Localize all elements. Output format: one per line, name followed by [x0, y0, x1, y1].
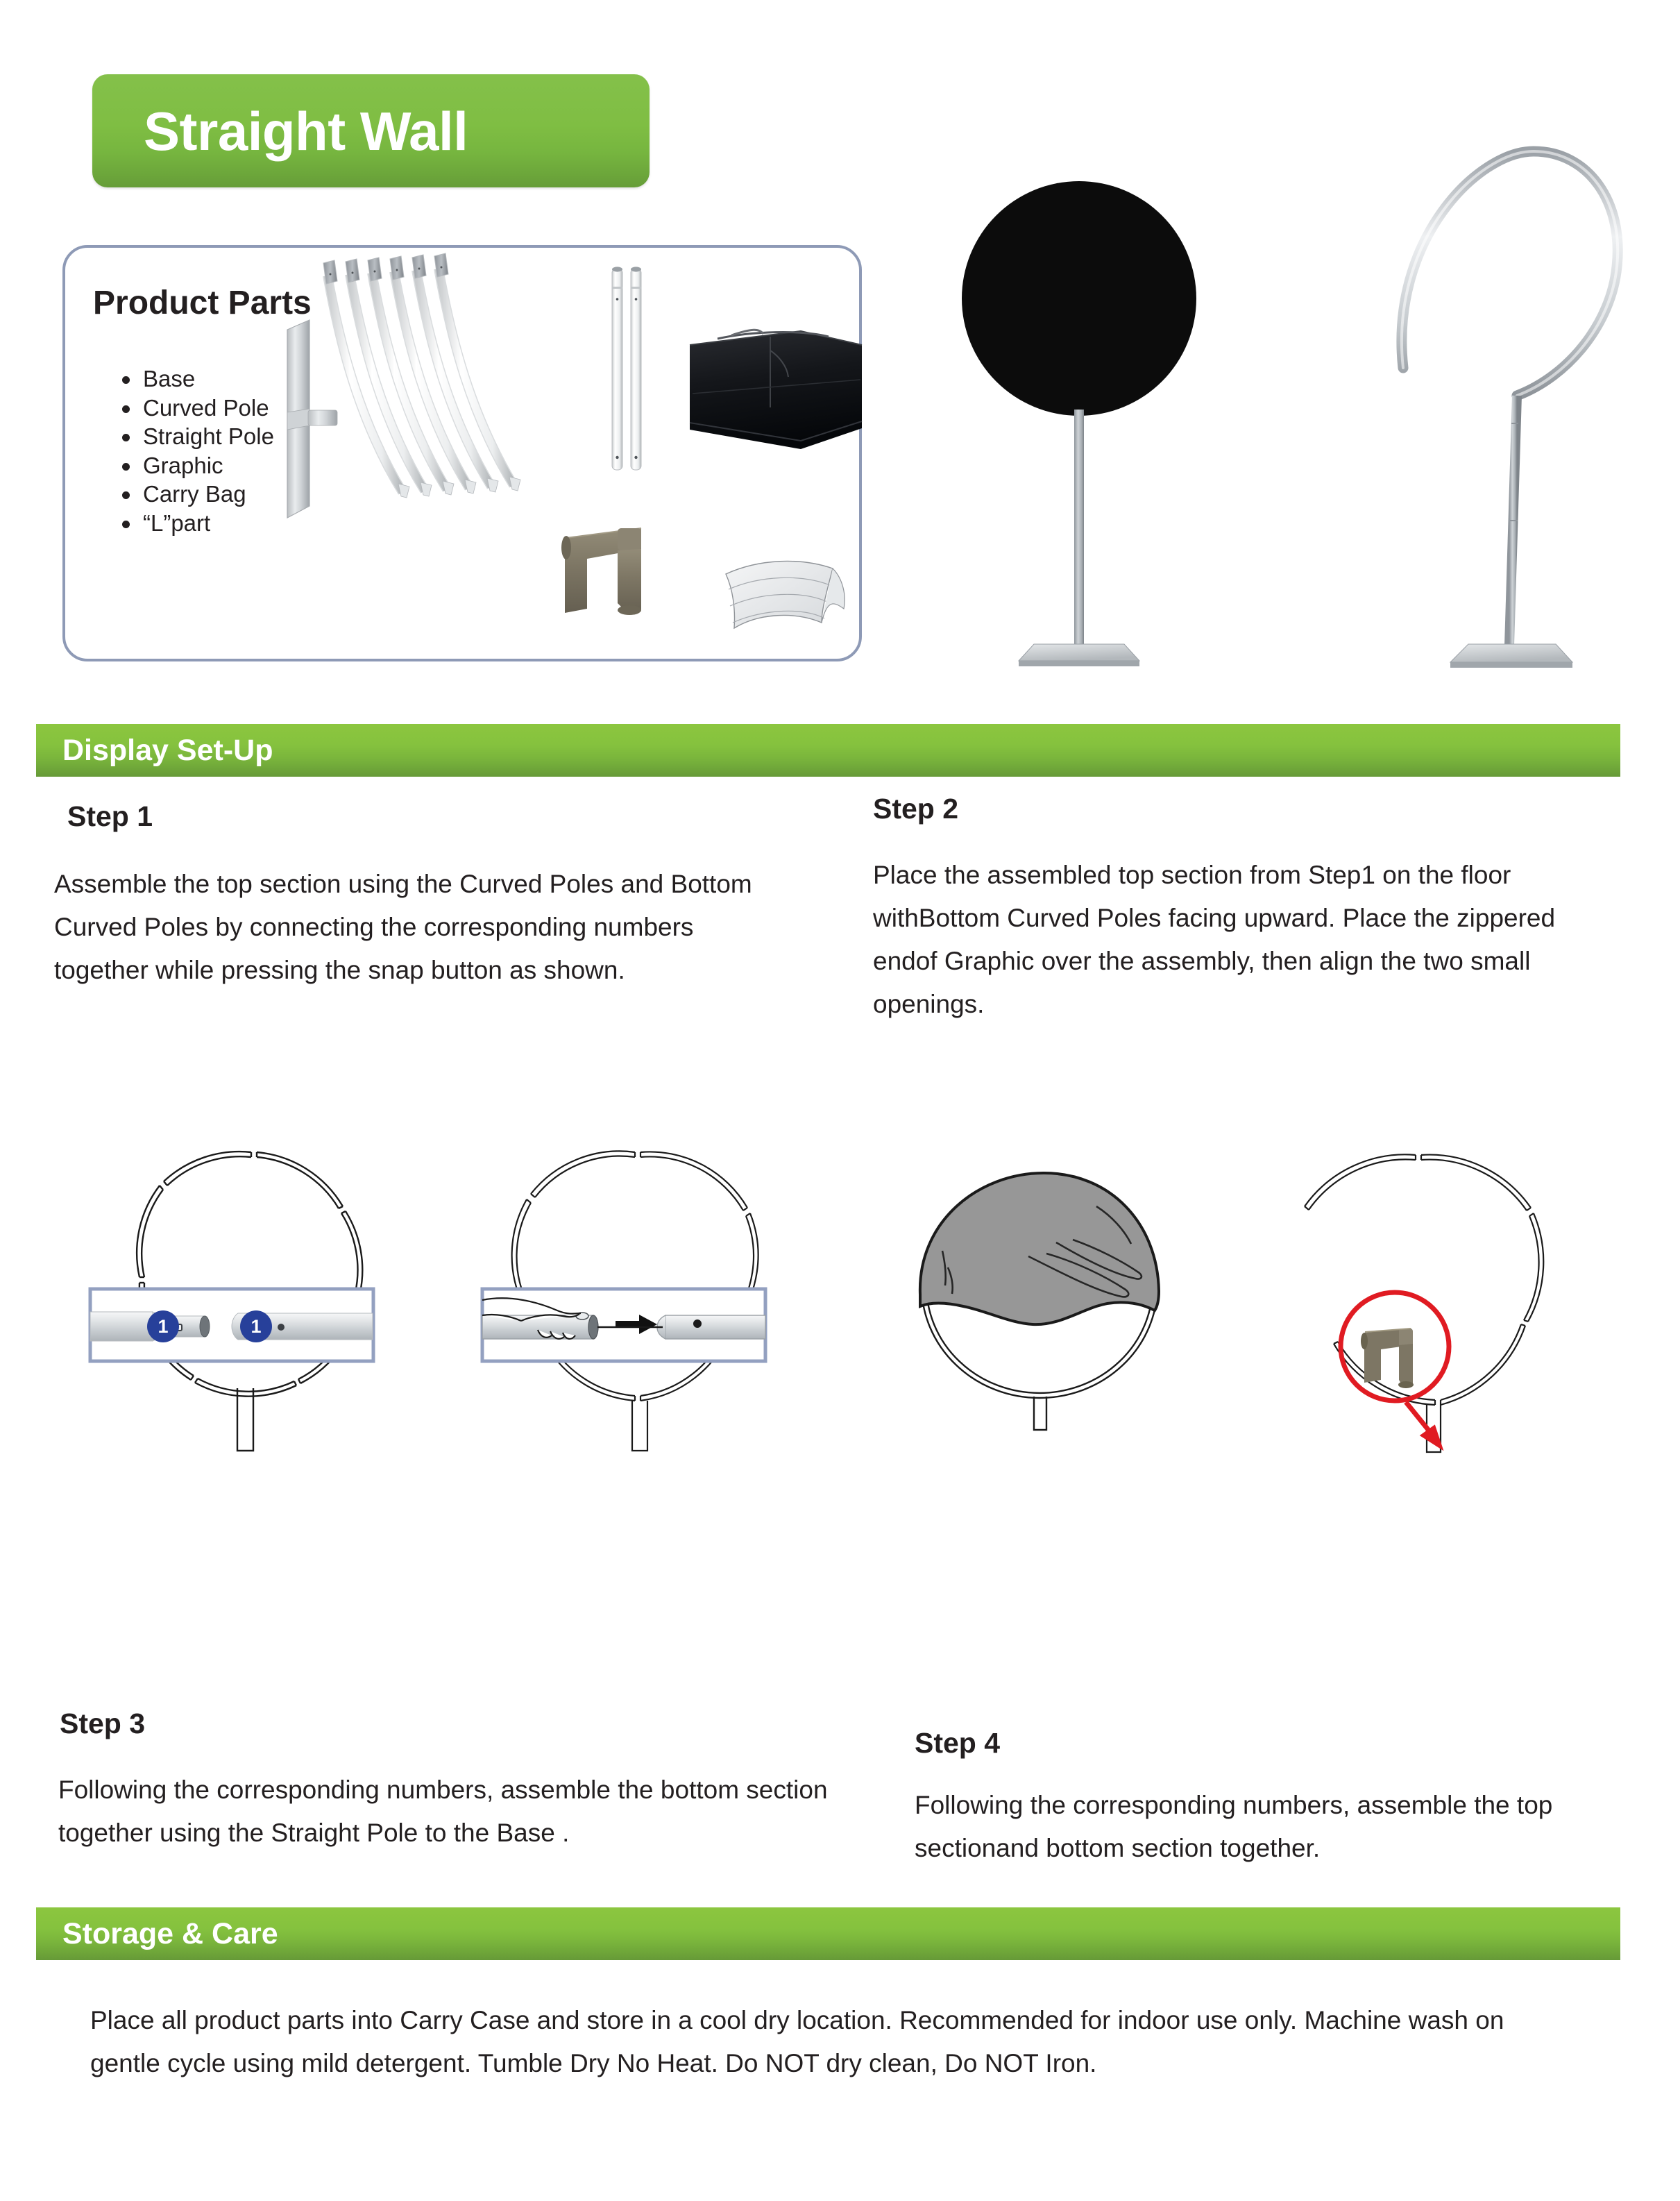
badge-number: 1 — [251, 1316, 261, 1337]
list-item: Carry Bag — [119, 480, 274, 509]
section-label: Display Set-Up — [62, 736, 273, 766]
step-3-body: Following the corresponding numbers, ass… — [58, 1769, 856, 1855]
connector-number-badge: 1 — [147, 1310, 179, 1342]
step-1-heading: Step 1 — [67, 800, 153, 833]
list-item: Straight Pole — [119, 422, 274, 451]
curved-pole-segment — [137, 1186, 163, 1277]
folded-graphic-illustration — [726, 562, 845, 628]
badge-number: 1 — [158, 1316, 168, 1337]
curved-pole-segment — [195, 1378, 296, 1397]
curved-pole-segment — [531, 1151, 635, 1197]
step-2-body: Place the assembled top section from Ste… — [873, 854, 1574, 1026]
part-label: Graphic — [143, 453, 223, 478]
part-label: “L”part — [143, 510, 210, 536]
list-item: Graphic — [119, 451, 274, 480]
product-parts-list: Base Curved Pole Straight Pole Graphic C… — [119, 364, 274, 537]
snap-button-hole — [278, 1324, 285, 1331]
part-label: Carry Bag — [143, 481, 246, 507]
list-item: Base — [119, 364, 274, 394]
l-part-icon — [1361, 1329, 1414, 1388]
step-4-body: Following the corresponding numbers, ass… — [915, 1784, 1615, 1870]
callout-arrow-icon — [1406, 1402, 1439, 1445]
curved-pole-segment — [341, 1211, 362, 1292]
graphic-draped-over-ring-assembly — [920, 1173, 1159, 1430]
curved-pole-segment — [1524, 1213, 1543, 1322]
snap-button-hole — [693, 1319, 702, 1328]
black-carry-bag-illustration — [690, 330, 862, 449]
olive-l-connector-illustration — [561, 528, 641, 615]
part-label: Straight Pole — [143, 423, 274, 449]
section-label: Storage & Care — [62, 1919, 278, 1949]
curved-pole-segment — [164, 1152, 251, 1186]
product-parts-artwork — [273, 248, 863, 657]
step-2-heading: Step 2 — [873, 793, 958, 825]
curved-pole-segment — [1441, 1324, 1525, 1405]
base-plate-illustration — [287, 320, 337, 518]
ring-frame-with-l-part-callout — [1305, 1154, 1543, 1452]
display-setup-section-header: Display Set-Up — [36, 724, 1620, 777]
assembled-round-display-with-black-graphic — [962, 181, 1196, 666]
round-frame-skeleton-on-base — [1402, 151, 1618, 668]
curved-pole-segment — [640, 1152, 747, 1211]
connector-number-badge: 1 — [240, 1310, 272, 1342]
part-label: Curved Pole — [143, 395, 269, 421]
page-title: Straight Wall — [144, 104, 468, 158]
storage-care-section-header: Storage & Care — [36, 1907, 1620, 1960]
curved-pole-segment — [1421, 1155, 1531, 1211]
product-parts-card: Product Parts Base Curved Pole Straight … — [62, 245, 862, 661]
l-part-callout — [1341, 1292, 1449, 1445]
step-1-body: Assemble the top section using the Curve… — [54, 863, 790, 992]
curved-pole-segment — [1305, 1154, 1416, 1210]
step-3-heading: Step 3 — [60, 1707, 145, 1740]
step-2-figure — [867, 1124, 1638, 1576]
six-curved-poles-illustration — [323, 253, 520, 498]
two-straight-poles-illustration — [612, 267, 641, 470]
hero-product-figures — [923, 118, 1617, 673]
list-item: “L”part — [119, 509, 274, 538]
part-label: Base — [143, 366, 195, 391]
list-item: Curved Pole — [119, 394, 274, 423]
storage-care-body: Place all product parts into Carry Case … — [90, 1999, 1547, 2085]
pole-connection-inset: 1 1 — [90, 1289, 373, 1361]
step-4-heading: Step 4 — [915, 1727, 1000, 1760]
curved-pole-segment — [257, 1152, 343, 1208]
step-1-figure: 1 1 — [52, 1124, 822, 1576]
snap-button-press-inset — [482, 1289, 765, 1361]
product-title-banner: Straight Wall — [92, 74, 650, 187]
